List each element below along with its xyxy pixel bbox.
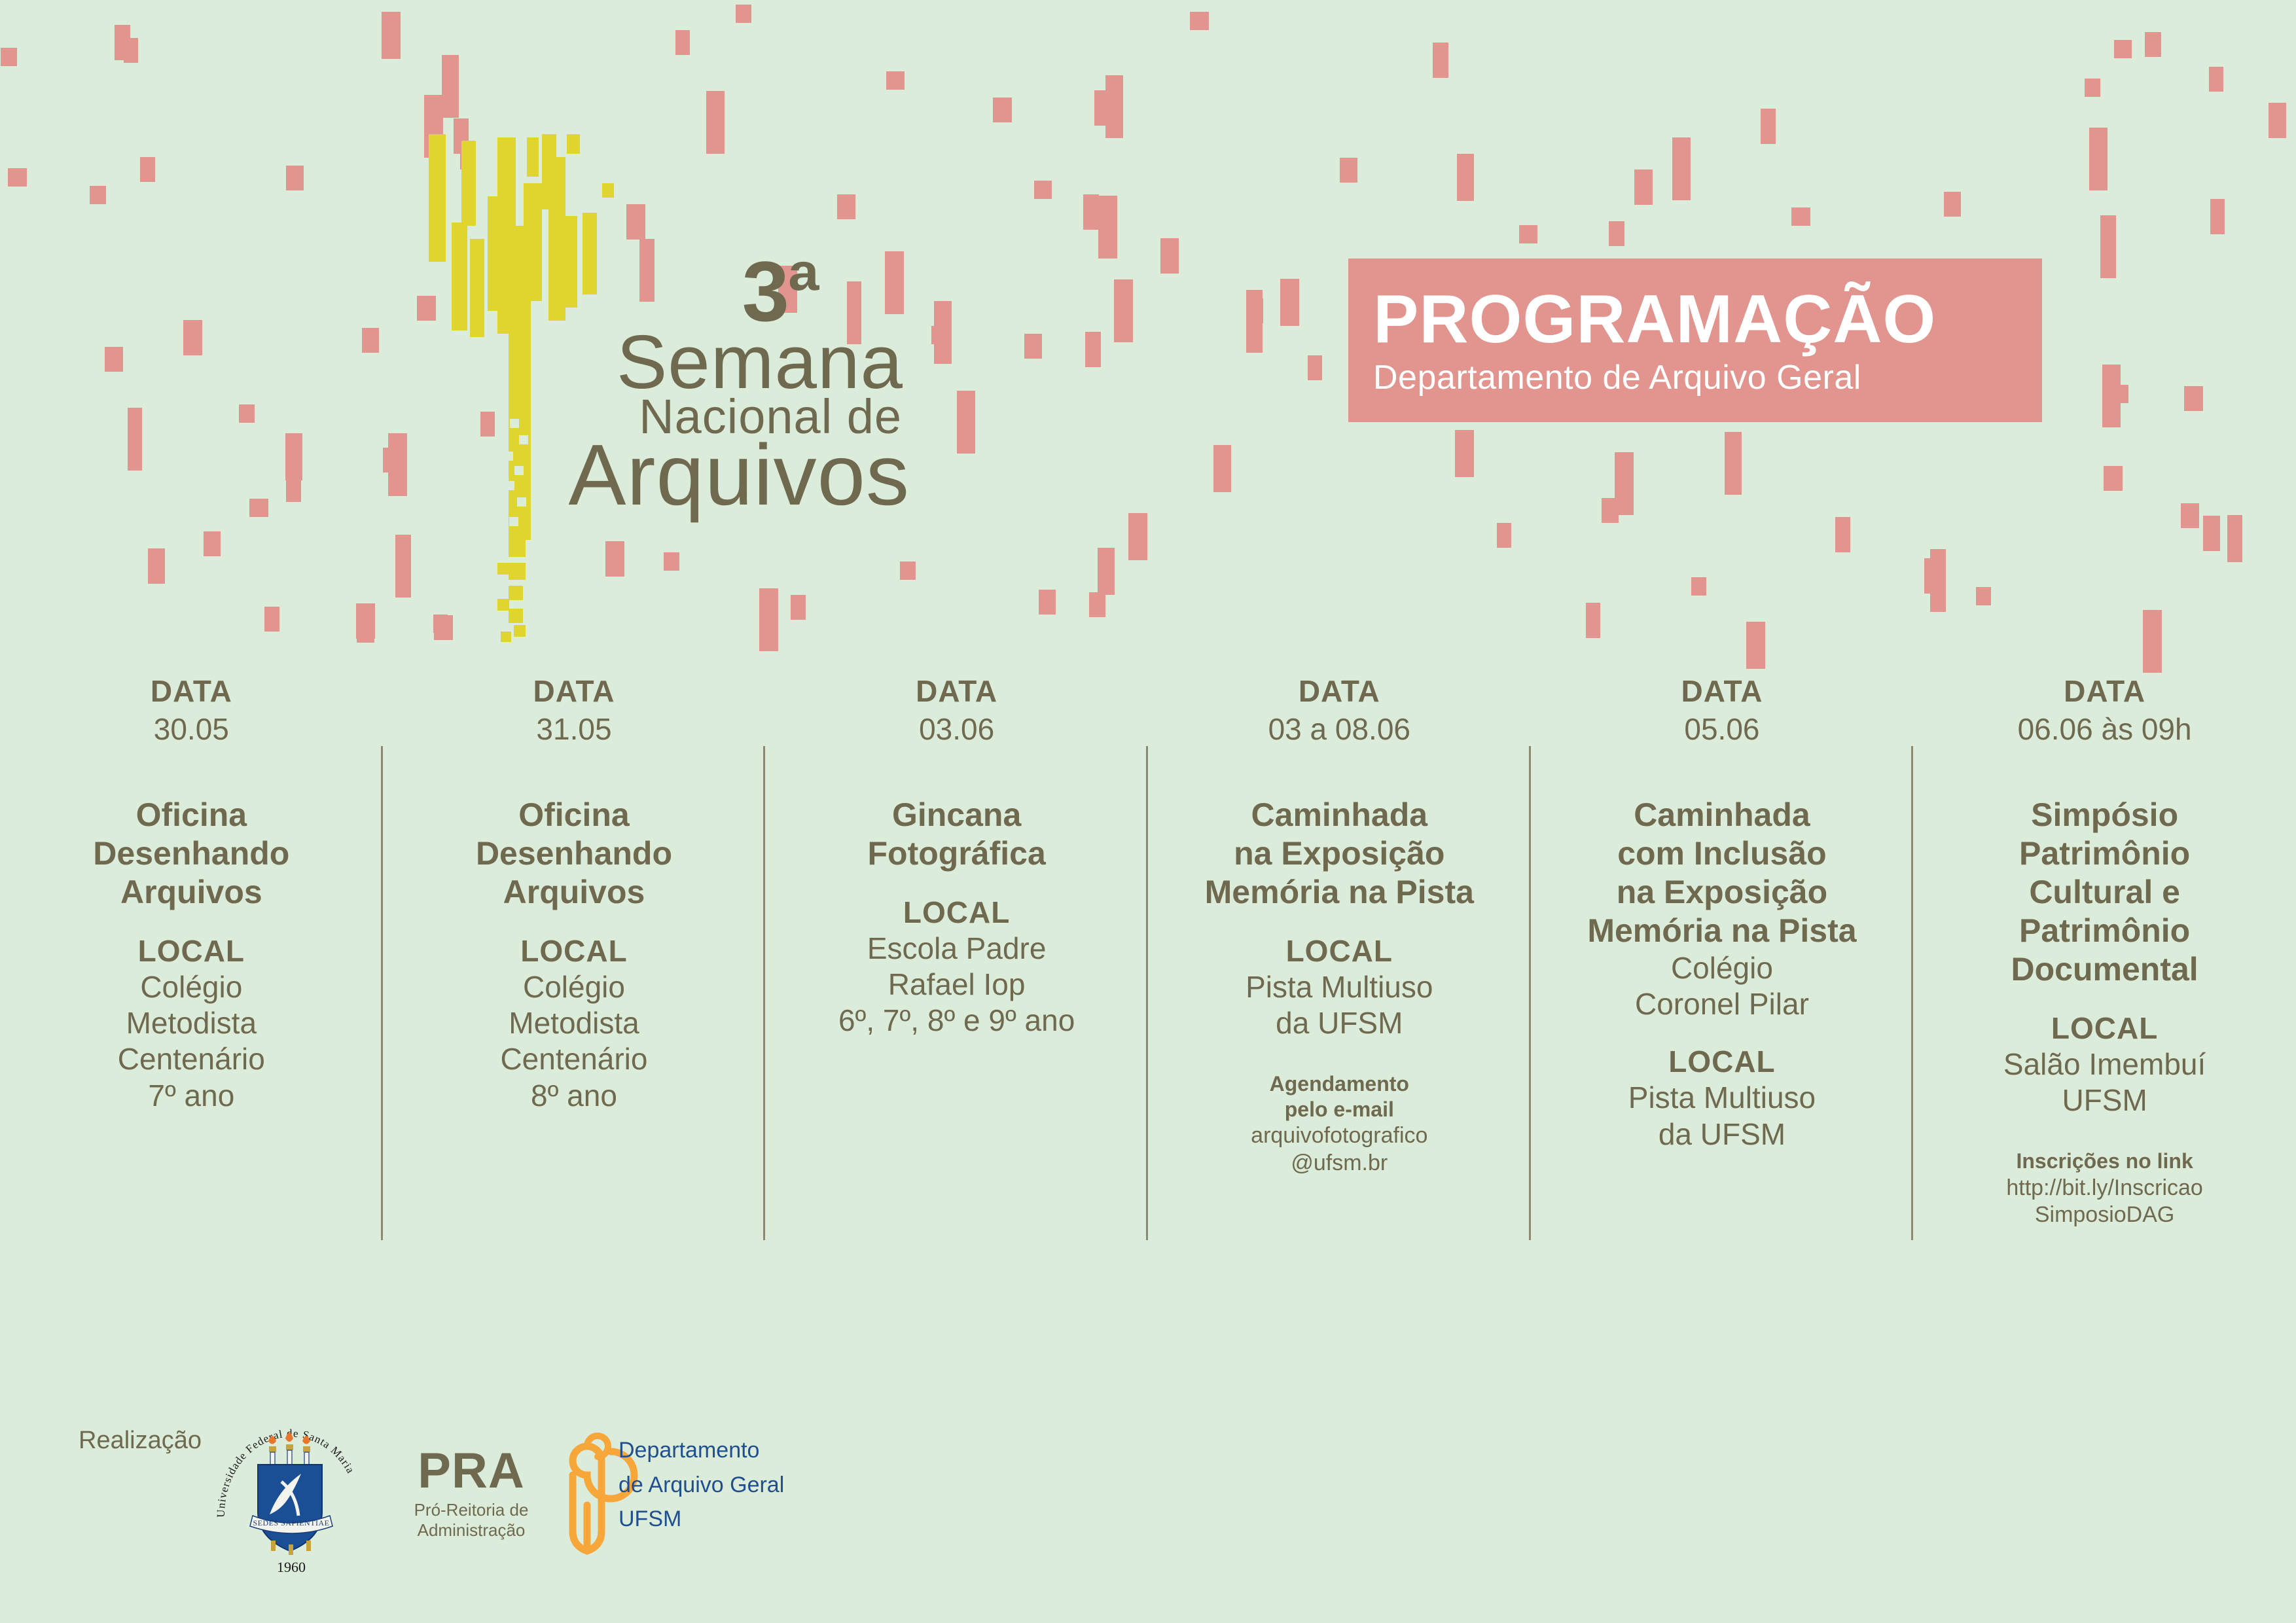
pra-subtitle: Pró-Reitoria de Administração [393, 1500, 550, 1541]
pink-tick [2089, 128, 2108, 190]
local-label: LOCAL [395, 935, 754, 967]
pink-tick [1976, 587, 1991, 605]
pink-tick [1791, 207, 1810, 226]
pink-tick [1, 48, 17, 66]
pink-tick [1924, 558, 1941, 594]
local-label: LOCAL [777, 897, 1136, 928]
pink-tick [1213, 445, 1231, 492]
data-label: DATA [1543, 675, 1902, 707]
venue-line: Colégio [12, 969, 371, 1005]
schedule-column: DATA03 a 08.06Caminhadana ExposiçãoMemór… [1148, 661, 1531, 1368]
pink-tick [791, 595, 806, 620]
event-date: 03.06 [777, 711, 1136, 749]
pink-tick [2114, 40, 2132, 58]
event-title-line: Oficina [395, 796, 754, 834]
data-label: DATA [1925, 675, 2284, 707]
yellow-pixel [497, 599, 509, 611]
dag-logo-text: Departamento de Arquivo Geral UFSM [619, 1433, 784, 1537]
pink-tick [1519, 225, 1537, 243]
pink-tick [706, 91, 725, 154]
yellow-bar [567, 134, 580, 154]
pink-tick [183, 320, 202, 355]
data-label: DATA [12, 675, 371, 707]
data-label: DATA [777, 675, 1136, 707]
venue-line: Centenário [12, 1041, 371, 1077]
venue-line: Metodista [12, 1005, 371, 1041]
dag-text-line3: UFSM [619, 1502, 784, 1537]
venue-line: da UFSM [1160, 1005, 1519, 1041]
dag-text-line2: de Arquivo Geral [619, 1468, 784, 1503]
event-date: 03 a 08.06 [1160, 711, 1519, 749]
pink-tick [285, 433, 302, 480]
pink-tick [460, 151, 475, 169]
pink-tick [2210, 199, 2225, 234]
note-bold-line: Agendamento [1160, 1071, 1519, 1096]
pink-tick [759, 588, 778, 651]
pink-tick [1248, 298, 1263, 323]
pink-tick [2209, 67, 2223, 92]
pink-tick [1190, 12, 1209, 30]
pink-tick [675, 30, 690, 55]
local-label: LOCAL [1925, 1012, 2284, 1044]
event-title-line: Gincana [777, 796, 1136, 834]
pink-tick [249, 499, 268, 517]
pink-tick [2227, 515, 2242, 562]
poster-canvas: 3ª Semana Nacional de Arquivos PROGRAMAÇ… [0, 0, 2296, 1623]
event-date: 06.06 às 09h [1925, 711, 2284, 749]
event-date: 31.05 [395, 711, 754, 749]
pink-tick [1039, 590, 1056, 615]
pink-tick [886, 71, 905, 90]
pink-tick [1691, 577, 1706, 596]
venue-line: Colégio [395, 969, 754, 1005]
pink-tick [1098, 196, 1117, 259]
pink-tick [1835, 517, 1850, 552]
pink-tick [442, 55, 459, 118]
pink-tick [1433, 43, 1448, 78]
event-title-line: Patrimônio [1925, 912, 2284, 950]
pink-tick [115, 25, 130, 60]
pink-tick [1246, 290, 1263, 353]
yellow-pixel [501, 632, 511, 642]
yellow-pixel [497, 563, 509, 575]
pink-tick [1114, 279, 1133, 342]
pink-tick [2269, 103, 2286, 138]
venue-line: Colégio [1543, 950, 1902, 986]
pink-tick [1024, 334, 1042, 359]
pink-tick [434, 615, 453, 640]
pink-tick [1602, 498, 1619, 523]
pink-tick [140, 157, 155, 182]
yellow-bar [542, 134, 556, 209]
pink-tick [837, 194, 855, 219]
pink-tick [1930, 549, 1946, 612]
title-line-semana: Semana [617, 324, 903, 400]
venue-line: Centenário [395, 1041, 754, 1077]
venue-line: 8º ano [395, 1078, 754, 1114]
pink-tick [2145, 32, 2161, 57]
pra-wordmark: PRA [393, 1446, 550, 1496]
yellow-pixel [514, 625, 526, 637]
pink-tick [382, 12, 401, 59]
banner-subtitle: Departamento de Arquivo Geral [1373, 359, 2042, 397]
pink-tick [128, 408, 142, 471]
schedule-column: DATA03.06GincanaFotográficaLOCALEscola P… [765, 661, 1148, 1368]
pink-tick [957, 391, 975, 454]
pink-tick [1725, 432, 1742, 495]
banner-title: PROGRAMAÇÃO [1373, 284, 2042, 355]
venue-line: Escola Padre [777, 931, 1136, 967]
event-title-line: Caminhada [1543, 796, 1902, 834]
pink-tick [1128, 513, 1147, 560]
pink-tick [383, 448, 397, 473]
venue-line: Rafael Iop [777, 967, 1136, 1003]
schedule-column: DATA31.05OficinaDesenhandoArquivosLOCALC… [383, 661, 766, 1368]
pink-tick [357, 618, 374, 643]
pink-tick [90, 186, 106, 204]
pink-tick [736, 5, 751, 23]
venue-line: Metodista [395, 1005, 754, 1041]
event-title-line: Patrimônio [1925, 834, 2284, 873]
event-title-line: com Inclusão [1543, 834, 1902, 873]
pink-tick [664, 552, 679, 571]
event-title-line: Oficina [12, 796, 371, 834]
dag-text-line1: Departamento [619, 1433, 784, 1468]
yellow-pixel [509, 563, 526, 580]
yellow-bar [461, 141, 476, 226]
pink-tick [1089, 592, 1105, 617]
pink-tick [356, 603, 375, 639]
pink-tick [931, 326, 949, 344]
pink-tick [239, 404, 255, 423]
pink-tick [1105, 75, 1123, 138]
pink-tick [1609, 221, 1624, 246]
pink-tick [1615, 452, 1634, 515]
venue-line: Pista Multiuso [1543, 1080, 1902, 1116]
svg-text:1960: 1960 [277, 1559, 306, 1575]
pink-tick [2085, 79, 2100, 97]
event-title-line: Cultural e [1925, 873, 2284, 912]
yellow-pixel [509, 540, 526, 557]
yellow-pixel [509, 609, 523, 623]
venue-line: Pista Multiuso [1160, 969, 1519, 1005]
pink-tick [1455, 430, 1474, 477]
pink-tick [204, 531, 221, 556]
schedule-column: DATA06.06 às 09hSimpósioPatrimônioCultur… [1913, 661, 2296, 1368]
event-title-line: Memória na Pista [1543, 912, 1902, 950]
venue-line: 7º ano [12, 1078, 371, 1114]
pink-tick [1761, 109, 1776, 144]
yellow-bar [602, 183, 614, 198]
pink-tick [934, 301, 952, 364]
note-plain-line: http://bit.ly/Inscricao [1925, 1175, 2284, 1201]
note-bold-line: pelo e-mail [1160, 1097, 1519, 1122]
yellow-bar [527, 137, 539, 177]
pink-tick [1034, 181, 1052, 199]
pink-tick [264, 607, 279, 632]
venue-line: da UFSM [1543, 1116, 1902, 1152]
pink-tick [2104, 466, 2123, 491]
footer-credits: Realização Universidade Federal de Santa… [0, 1394, 2296, 1623]
pra-subtitle-line2: Administração [393, 1520, 550, 1541]
local-label: LOCAL [1160, 935, 1519, 967]
event-title-line: Desenhando [395, 834, 754, 873]
note-plain-line: arquivofotografico [1160, 1123, 1519, 1149]
event-title-line: Simpósio [1925, 796, 2284, 834]
pink-tick [124, 38, 138, 63]
data-label: DATA [1160, 675, 1519, 707]
venue-line: UFSM [1925, 1082, 2284, 1118]
event-title-line: Arquivos [395, 873, 754, 912]
pink-tick [1308, 355, 1322, 380]
pink-tick [2111, 385, 2128, 403]
programacao-banner: PROGRAMAÇÃO Departamento de Arquivo Gera… [1348, 259, 2042, 422]
pink-tick [1340, 158, 1357, 183]
pink-tick [395, 535, 411, 597]
pink-tick [1085, 332, 1101, 367]
note-plain-line: SimposioDAG [1925, 1202, 2284, 1228]
schedule-grid: DATA30.05OficinaDesenhandoArquivosLOCALC… [0, 661, 2296, 1368]
pink-tick [1497, 523, 1511, 548]
pink-tick [388, 433, 407, 496]
event-title-line: Memória na Pista [1160, 873, 1519, 912]
pink-tick [1457, 154, 1474, 201]
pink-tick [362, 328, 379, 353]
event-title-line: Desenhando [12, 834, 371, 873]
schedule-column: DATA30.05OficinaDesenhandoArquivosLOCALC… [0, 661, 383, 1368]
pra-subtitle-line1: Pró-Reitoria de [393, 1500, 550, 1520]
venue-line: 6º, 7º, 8º e 9º ano [777, 1003, 1136, 1039]
schedule-column: DATA05.06Caminhadacom Inclusãona Exposiç… [1531, 661, 1914, 1368]
pink-tick [1672, 137, 1691, 200]
pink-tick [1083, 194, 1099, 230]
pink-tick [433, 615, 448, 633]
event-title-line: na Exposição [1543, 873, 1902, 912]
event-title-line: Documental [1925, 950, 2284, 989]
pink-tick [2184, 386, 2203, 411]
pink-tick [286, 166, 304, 190]
pink-tick [1098, 548, 1115, 595]
pink-tick [105, 347, 123, 372]
venue-line: Salão Imembuí [1925, 1046, 2284, 1082]
event-title-lockup: 3ª Semana Nacional de Arquivos [406, 262, 903, 537]
event-title-line: na Exposição [1160, 834, 1519, 873]
pink-tick [454, 118, 469, 154]
pink-tick [1160, 238, 1179, 274]
yellow-bar [429, 134, 446, 262]
pink-tick [148, 548, 165, 584]
pink-tick [286, 439, 301, 502]
note-bold-line: Inscrições no link [1925, 1149, 2284, 1173]
pink-tick [1586, 603, 1600, 638]
event-date: 30.05 [12, 711, 371, 749]
event-title-line: Caminhada [1160, 796, 1519, 834]
pink-tick [1280, 279, 1299, 326]
event-title-line: Arquivos [12, 873, 371, 912]
pink-tick [1634, 169, 1653, 205]
note-plain-line: @ufsm.br [1160, 1150, 1519, 1176]
local-label: LOCAL [12, 935, 371, 967]
pink-tick [605, 541, 624, 577]
svg-text:SEDES SAPIENTIAE: SEDES SAPIENTIAE [253, 1518, 329, 1527]
ufsm-seal-logo: Universidade Federal de Santa Maria [203, 1400, 380, 1584]
yellow-pixel [509, 586, 523, 600]
pink-tick [626, 204, 645, 240]
pink-tick [8, 168, 27, 187]
pink-tick [424, 95, 443, 158]
pink-tick [993, 98, 1012, 122]
pink-tick [1944, 192, 1961, 217]
venue-line: Coronel Pilar [1543, 986, 1902, 1022]
pink-tick [2102, 365, 2121, 427]
local-label: LOCAL [1543, 1046, 1902, 1077]
event-date: 05.06 [1543, 711, 1902, 749]
pink-tick [900, 562, 916, 580]
pink-tick [2100, 215, 2116, 278]
event-title-line: Fotográfica [777, 834, 1136, 873]
realizacao-label: Realização [79, 1427, 202, 1455]
pra-logo: PRA Pró-Reitoria de Administração [393, 1446, 550, 1541]
pink-tick [2181, 503, 2199, 528]
title-line-arquivos: Arquivos [568, 432, 910, 518]
data-label: DATA [395, 675, 754, 707]
pink-tick [1094, 90, 1111, 126]
pink-tick [2203, 516, 2220, 551]
